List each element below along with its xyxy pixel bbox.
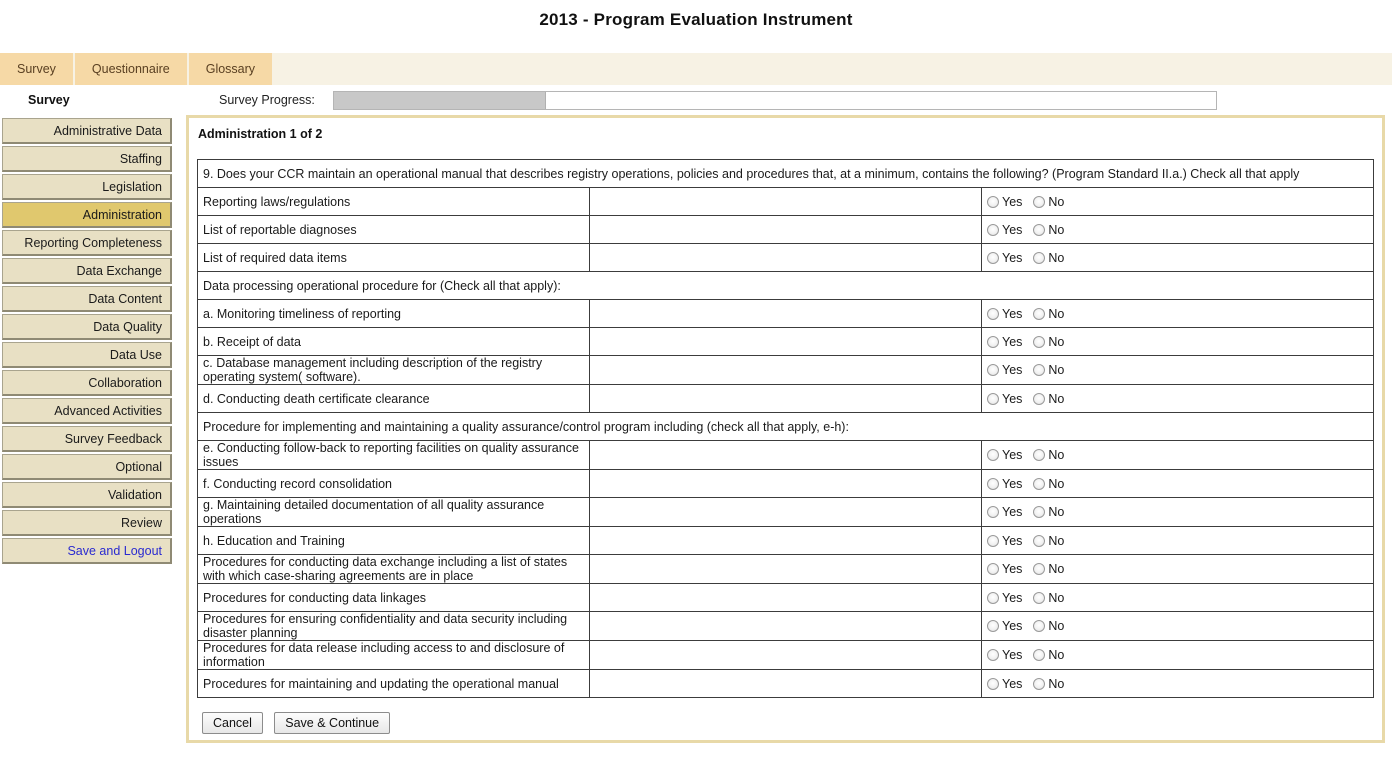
sidebar-item-label: Reporting Completeness	[24, 236, 162, 250]
row-label: Reporting laws/regulations	[198, 188, 590, 216]
sidebar-item-label: Survey Feedback	[65, 432, 162, 446]
sidebar-item-label: Administration	[83, 208, 162, 222]
sidebar-item-staffing[interactable]: Staffing	[2, 146, 172, 172]
radio-yes-label: Yes	[1002, 195, 1022, 209]
sidebar-item-label: Save and Logout	[67, 544, 162, 558]
radio-yes-icon[interactable]	[987, 252, 999, 264]
radio-yes-icon[interactable]	[987, 336, 999, 348]
table-row: e. Conducting follow-back to reporting f…	[198, 441, 1374, 470]
table-row: Data processing operational procedure fo…	[198, 272, 1374, 300]
radio-no-icon[interactable]	[1033, 252, 1045, 264]
radio-no-icon[interactable]	[1033, 224, 1045, 236]
radio-yes[interactable]: Yes	[987, 307, 1022, 321]
radio-yes-label: Yes	[1002, 223, 1022, 237]
radio-yes-icon[interactable]	[987, 678, 999, 690]
radio-yes-label: Yes	[1002, 307, 1022, 321]
table-row: Procedures for maintaining and updating …	[198, 670, 1374, 698]
survey-progress-bar	[333, 91, 1217, 110]
radio-no[interactable]: No	[1033, 477, 1064, 491]
table-row: d. Conducting death certificate clearanc…	[198, 385, 1374, 413]
radio-yes[interactable]: Yes	[987, 448, 1022, 462]
radio-yes[interactable]: Yes	[987, 363, 1022, 377]
table-row: f. Conducting record consolidationYesNo	[198, 470, 1374, 498]
radio-no-label: No	[1048, 648, 1064, 662]
answer-cell: YesNo	[982, 441, 1374, 470]
row-label: e. Conducting follow-back to reporting f…	[198, 441, 590, 470]
radio-no-icon[interactable]	[1033, 196, 1045, 208]
sidebar-item-label: Legislation	[102, 180, 162, 194]
radio-yes[interactable]: Yes	[987, 619, 1022, 633]
content-panel: Administration 1 of 2 9. Does your CCR m…	[186, 115, 1385, 743]
sidebar-item-legislation[interactable]: Legislation	[2, 174, 172, 200]
radio-yes-icon[interactable]	[987, 592, 999, 604]
radio-yes-label: Yes	[1002, 677, 1022, 691]
radio-no-icon[interactable]	[1033, 620, 1045, 632]
table-row: Procedures for data release including ac…	[198, 641, 1374, 670]
row-label: c. Database management including descrip…	[198, 356, 590, 385]
radio-no-icon[interactable]	[1033, 649, 1045, 661]
sidebar-item-label: Advanced Activities	[54, 404, 162, 418]
answer-spacer-cell	[590, 328, 982, 356]
radio-no-icon[interactable]	[1033, 393, 1045, 405]
radio-no[interactable]: No	[1033, 363, 1064, 377]
radio-no[interactable]: No	[1033, 223, 1064, 237]
radio-no-label: No	[1048, 534, 1064, 548]
radio-yes[interactable]: Yes	[987, 505, 1022, 519]
answer-spacer-cell	[590, 300, 982, 328]
answer-cell: YesNo	[982, 641, 1374, 670]
row-label: Procedures for conducting data exchange …	[198, 555, 590, 584]
radio-yes-icon[interactable]	[987, 506, 999, 518]
page-title: 2013 - Program Evaluation Instrument	[0, 0, 1392, 38]
answer-cell: YesNo	[982, 188, 1374, 216]
answer-cell: YesNo	[982, 612, 1374, 641]
radio-no-label: No	[1048, 307, 1064, 321]
sidebar-nav: Administrative DataStaffingLegislationAd…	[0, 115, 181, 566]
radio-yes[interactable]: Yes	[987, 335, 1022, 349]
table-row: Procedures for conducting data exchange …	[198, 555, 1374, 584]
radio-no-icon[interactable]	[1033, 478, 1045, 490]
survey-heading: Survey	[28, 93, 70, 107]
survey-progress-label: Survey Progress:	[219, 93, 315, 107]
radio-no-label: No	[1048, 223, 1064, 237]
tab-glossary[interactable]: Glossary	[189, 53, 272, 85]
radio-no-icon[interactable]	[1033, 336, 1045, 348]
answer-cell: YesNo	[982, 527, 1374, 555]
answer-cell: YesNo	[982, 498, 1374, 527]
radio-yes[interactable]: Yes	[987, 392, 1022, 406]
tab-questionnaire[interactable]: Questionnaire	[75, 53, 187, 85]
sidebar-item-data-use[interactable]: Data Use	[2, 342, 172, 368]
sidebar-item-label: Staffing	[120, 152, 162, 166]
save-and-continue-button[interactable]: Save & Continue	[274, 712, 390, 734]
sidebar-item-survey-feedback[interactable]: Survey Feedback	[2, 426, 172, 452]
row-label: List of required data items	[198, 244, 590, 272]
form-button-row: Cancel Save & Continue	[197, 712, 1374, 734]
answer-spacer-cell	[590, 356, 982, 385]
radio-no[interactable]: No	[1033, 619, 1064, 633]
radio-no-icon[interactable]	[1033, 678, 1045, 690]
table-row: Procedures for ensuring confidentiality …	[198, 612, 1374, 641]
sidebar-item-advanced-activities[interactable]: Advanced Activities	[2, 398, 172, 424]
question-table: 9. Does your CCR maintain an operational…	[197, 159, 1374, 698]
radio-no-label: No	[1048, 363, 1064, 377]
answer-spacer-cell	[590, 670, 982, 698]
answer-cell: YesNo	[982, 584, 1374, 612]
answer-cell: YesNo	[982, 244, 1374, 272]
sidebar-item-label: Collaboration	[88, 376, 162, 390]
radio-yes[interactable]: Yes	[987, 534, 1022, 548]
row-label: f. Conducting record consolidation	[198, 470, 590, 498]
row-label: Procedures for maintaining and updating …	[198, 670, 590, 698]
question-text: 9. Does your CCR maintain an operational…	[198, 160, 1374, 188]
answer-cell: YesNo	[982, 385, 1374, 413]
question-header-row: 9. Does your CCR maintain an operational…	[198, 160, 1374, 188]
radio-yes-label: Yes	[1002, 448, 1022, 462]
radio-yes[interactable]: Yes	[987, 195, 1022, 209]
answer-cell: YesNo	[982, 470, 1374, 498]
radio-no-icon[interactable]	[1033, 449, 1045, 461]
table-row: c. Database management including descrip…	[198, 356, 1374, 385]
answer-cell: YesNo	[982, 356, 1374, 385]
sidebar-item-optional[interactable]: Optional	[2, 454, 172, 480]
row-label: g. Maintaining detailed documentation of…	[198, 498, 590, 527]
radio-yes-label: Yes	[1002, 392, 1022, 406]
table-row: h. Education and TrainingYesNo	[198, 527, 1374, 555]
answer-spacer-cell	[590, 584, 982, 612]
sidebar-item-label: Data Quality	[93, 320, 162, 334]
radio-no-label: No	[1048, 562, 1064, 576]
radio-yes[interactable]: Yes	[987, 677, 1022, 691]
radio-yes-label: Yes	[1002, 591, 1022, 605]
table-row: b. Receipt of dataYesNo	[198, 328, 1374, 356]
row-label: a. Monitoring timeliness of reporting	[198, 300, 590, 328]
radio-no-label: No	[1048, 677, 1064, 691]
sidebar-item-label: Data Exchange	[77, 264, 162, 278]
radio-no[interactable]: No	[1033, 648, 1064, 662]
sidebar-item-administration[interactable]: Administration	[2, 202, 172, 228]
sidebar-item-label: Data Use	[110, 348, 162, 362]
table-row: List of reportable diagnosesYesNo	[198, 216, 1374, 244]
radio-no-icon[interactable]	[1033, 563, 1045, 575]
answer-spacer-cell	[590, 216, 982, 244]
answer-cell: YesNo	[982, 555, 1374, 584]
radio-yes[interactable]: Yes	[987, 591, 1022, 605]
radio-no[interactable]: No	[1033, 505, 1064, 519]
radio-yes-icon[interactable]	[987, 196, 999, 208]
answer-cell: YesNo	[982, 216, 1374, 244]
radio-no-label: No	[1048, 591, 1064, 605]
sidebar-item-label: Optional	[115, 460, 162, 474]
radio-yes-icon[interactable]	[987, 364, 999, 376]
row-label: Procedures for ensuring confidentiality …	[198, 612, 590, 641]
radio-no-icon[interactable]	[1033, 364, 1045, 376]
sidebar-item-save-and-logout[interactable]: Save and Logout	[2, 538, 172, 564]
radio-yes-icon[interactable]	[987, 620, 999, 632]
answer-spacer-cell	[590, 498, 982, 527]
radio-yes-label: Yes	[1002, 505, 1022, 519]
tab-bar: Survey Questionnaire Glossary	[0, 53, 1392, 85]
answer-spacer-cell	[590, 244, 982, 272]
sidebar-item-validation[interactable]: Validation	[2, 482, 172, 508]
radio-yes-icon[interactable]	[987, 224, 999, 236]
radio-no[interactable]: No	[1033, 677, 1064, 691]
answer-spacer-cell	[590, 612, 982, 641]
radio-no-icon[interactable]	[1033, 592, 1045, 604]
cancel-button[interactable]: Cancel	[202, 712, 263, 734]
row-label: List of reportable diagnoses	[198, 216, 590, 244]
radio-yes-label: Yes	[1002, 562, 1022, 576]
radio-yes-label: Yes	[1002, 619, 1022, 633]
radio-no-label: No	[1048, 195, 1064, 209]
page-section-title: Administration 1 of 2	[197, 127, 1374, 141]
answer-cell: YesNo	[982, 300, 1374, 328]
answer-spacer-cell	[590, 188, 982, 216]
radio-no-label: No	[1048, 335, 1064, 349]
sidebar-item-collaboration[interactable]: Collaboration	[2, 370, 172, 396]
radio-no-icon[interactable]	[1033, 535, 1045, 547]
sidebar-item-data-quality[interactable]: Data Quality	[2, 314, 172, 340]
radio-no-label: No	[1048, 619, 1064, 633]
radio-no-icon[interactable]	[1033, 506, 1045, 518]
answer-spacer-cell	[590, 470, 982, 498]
row-label: Procedures for data release including ac…	[198, 641, 590, 670]
radio-yes[interactable]: Yes	[987, 562, 1022, 576]
progress-strip: Survey Survey Progress:	[0, 85, 1392, 115]
section-header-cell: Procedure for implementing and maintaini…	[198, 413, 1374, 441]
radio-yes-label: Yes	[1002, 534, 1022, 548]
radio-yes[interactable]: Yes	[987, 477, 1022, 491]
section-header-cell: Data processing operational procedure fo…	[198, 272, 1374, 300]
radio-yes-icon[interactable]	[987, 649, 999, 661]
answer-spacer-cell	[590, 385, 982, 413]
sidebar-item-label: Review	[121, 516, 162, 530]
row-label: b. Receipt of data	[198, 328, 590, 356]
radio-no[interactable]: No	[1033, 195, 1064, 209]
row-label: Procedures for conducting data linkages	[198, 584, 590, 612]
answer-spacer-cell	[590, 555, 982, 584]
body-wrapper: Administrative DataStaffingLegislationAd…	[0, 115, 1392, 745]
radio-no-label: No	[1048, 505, 1064, 519]
radio-no[interactable]: No	[1033, 591, 1064, 605]
radio-yes-icon[interactable]	[987, 449, 999, 461]
sidebar-item-review[interactable]: Review	[2, 510, 172, 536]
radio-yes-icon[interactable]	[987, 563, 999, 575]
radio-no[interactable]: No	[1033, 392, 1064, 406]
radio-no-label: No	[1048, 477, 1064, 491]
radio-yes-icon[interactable]	[987, 535, 999, 547]
table-row: a. Monitoring timeliness of reportingYes…	[198, 300, 1374, 328]
radio-no-label: No	[1048, 251, 1064, 265]
radio-yes[interactable]: Yes	[987, 251, 1022, 265]
answer-spacer-cell	[590, 527, 982, 555]
radio-no[interactable]: No	[1033, 251, 1064, 265]
radio-no[interactable]: No	[1033, 562, 1064, 576]
radio-yes-icon[interactable]	[987, 393, 999, 405]
radio-no-icon[interactable]	[1033, 308, 1045, 320]
answer-cell: YesNo	[982, 328, 1374, 356]
sidebar-item-label: Administrative Data	[54, 124, 162, 138]
radio-no-label: No	[1048, 392, 1064, 406]
radio-yes-icon[interactable]	[987, 308, 999, 320]
table-row: Procedures for conducting data linkagesY…	[198, 584, 1374, 612]
radio-yes[interactable]: Yes	[987, 223, 1022, 237]
table-row: Procedure for implementing and maintaini…	[198, 413, 1374, 441]
radio-yes-icon[interactable]	[987, 478, 999, 490]
radio-no[interactable]: No	[1033, 534, 1064, 548]
row-label: d. Conducting death certificate clearanc…	[198, 385, 590, 413]
row-label: h. Education and Training	[198, 527, 590, 555]
table-row: Reporting laws/regulationsYesNo	[198, 188, 1374, 216]
radio-yes-label: Yes	[1002, 251, 1022, 265]
sidebar-item-label: Validation	[108, 488, 162, 502]
sidebar-item-data-exchange[interactable]: Data Exchange	[2, 258, 172, 284]
radio-yes-label: Yes	[1002, 648, 1022, 662]
answer-spacer-cell	[590, 641, 982, 670]
sidebar-item-administrative-data[interactable]: Administrative Data	[2, 118, 172, 144]
radio-no[interactable]: No	[1033, 335, 1064, 349]
radio-no[interactable]: No	[1033, 307, 1064, 321]
tab-survey[interactable]: Survey	[0, 53, 73, 85]
table-row: g. Maintaining detailed documentation of…	[198, 498, 1374, 527]
answer-cell: YesNo	[982, 670, 1374, 698]
radio-no[interactable]: No	[1033, 448, 1064, 462]
answer-spacer-cell	[590, 441, 982, 470]
radio-yes-label: Yes	[1002, 477, 1022, 491]
survey-progress-fill	[334, 92, 546, 109]
radio-yes-label: Yes	[1002, 335, 1022, 349]
table-row: List of required data itemsYesNo	[198, 244, 1374, 272]
sidebar-item-reporting-completeness[interactable]: Reporting Completeness	[2, 230, 172, 256]
sidebar-item-label: Data Content	[88, 292, 162, 306]
sidebar-item-data-content[interactable]: Data Content	[2, 286, 172, 312]
radio-yes-label: Yes	[1002, 363, 1022, 377]
radio-no-label: No	[1048, 448, 1064, 462]
radio-yes[interactable]: Yes	[987, 648, 1022, 662]
